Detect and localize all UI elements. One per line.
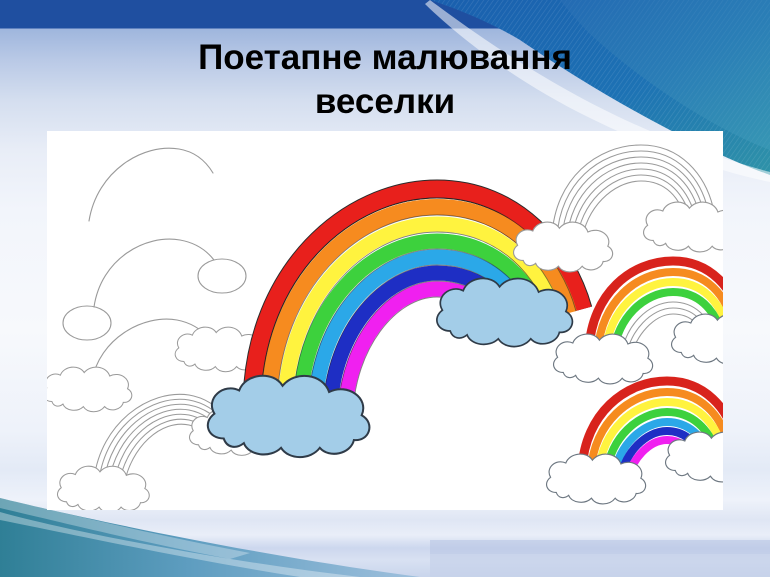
page-title: Поетапне малювання веселки [0, 36, 770, 124]
slide-canvas: Поетапне малювання веселки [0, 0, 770, 577]
step-2-arc-with-ellipses [63, 239, 246, 340]
page-title-line1: Поетапне малювання [0, 36, 770, 80]
bottom-right-band [430, 540, 770, 554]
step-1-arc-guide-line [89, 148, 213, 221]
step-7-finished-rainbow [547, 381, 723, 504]
rainbow-tutorial-illustration [47, 131, 723, 510]
step-5-full-outline-rainbow [514, 145, 723, 272]
page-title-line2: веселки [0, 80, 770, 124]
content-panel [47, 131, 723, 510]
